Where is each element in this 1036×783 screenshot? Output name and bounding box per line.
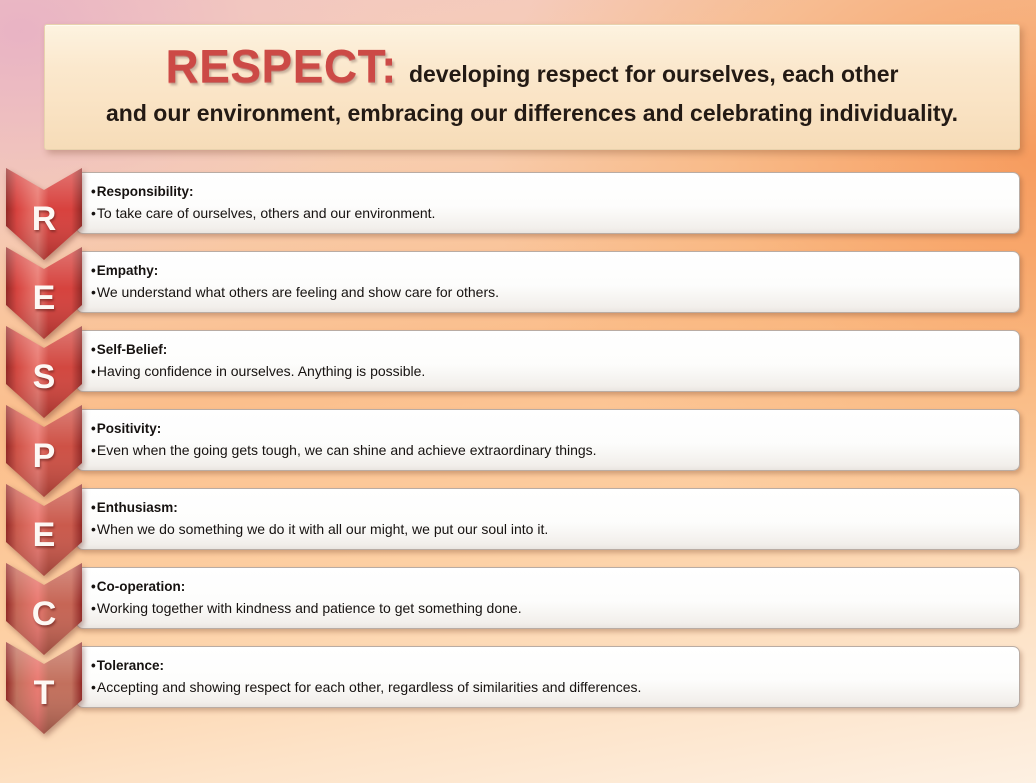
value-card: •Enthusiasm:•When we do something we do … [76, 488, 1020, 550]
header-banner: RESPECT: developing respect for ourselve… [44, 24, 1020, 150]
value-description: •We understand what others are feeling a… [91, 282, 1019, 303]
respect-title: RESPECT: [165, 43, 396, 89]
value-title-text: Positivity: [97, 421, 162, 436]
respect-row: R•Responsibility:•To take care of oursel… [0, 168, 1036, 247]
value-card: •Positivity:•Even when the going gets to… [76, 409, 1020, 471]
respect-row: T•Tolerance:•Accepting and showing respe… [0, 642, 1036, 721]
value-title: •Co-operation: [91, 577, 1019, 597]
respect-row: E•Enthusiasm:•When we do something we do… [0, 484, 1036, 563]
bullet-icon: • [91, 521, 96, 537]
value-title: •Enthusiasm: [91, 498, 1019, 518]
value-card: •Responsibility:•To take care of ourselv… [76, 172, 1020, 234]
value-title-text: Self-Belief: [97, 342, 168, 357]
value-description: •When we do something we do it with all … [91, 519, 1019, 540]
bullet-icon: • [91, 658, 96, 673]
value-description-text: We understand what others are feeling an… [97, 284, 499, 300]
respect-row: E•Empathy:•We understand what others are… [0, 247, 1036, 326]
value-description-text: To take care of ourselves, others and ou… [97, 205, 436, 221]
value-title: •Self-Belief: [91, 340, 1019, 360]
bullet-icon: • [91, 363, 96, 379]
bullet-icon: • [91, 205, 96, 221]
banner-second-line: and our environment, embracing our diffe… [106, 101, 958, 126]
bullet-icon: • [91, 600, 96, 616]
bullet-icon: • [91, 579, 96, 594]
value-description-text: Accepting and showing respect for each o… [97, 679, 641, 695]
poster-canvas: RESPECT: developing respect for ourselve… [0, 0, 1036, 783]
bullet-icon: • [91, 442, 96, 458]
value-description: •To take care of ourselves, others and o… [91, 203, 1019, 224]
value-description: •Even when the going gets tough, we can … [91, 440, 1019, 461]
value-title: •Positivity: [91, 419, 1019, 439]
value-title-text: Co-operation: [97, 579, 186, 594]
value-description-text: Working together with kindness and patie… [97, 600, 522, 616]
value-title: •Responsibility: [91, 182, 1019, 202]
respect-row: C•Co-operation:•Working together with ki… [0, 563, 1036, 642]
value-title-text: Empathy: [97, 263, 159, 278]
banner-headline: RESPECT: developing respect for ourselve… [165, 43, 898, 89]
value-description: •Having confidence in ourselves. Anythin… [91, 361, 1019, 382]
value-card: •Empathy:•We understand what others are … [76, 251, 1020, 313]
respect-row: P•Positivity:•Even when the going gets t… [0, 405, 1036, 484]
value-title: •Empathy: [91, 261, 1019, 281]
value-description-text: When we do something we do it with all o… [97, 521, 548, 537]
bullet-icon: • [91, 284, 96, 300]
value-description-text: Even when the going gets tough, we can s… [97, 442, 597, 458]
bullet-icon: • [91, 679, 96, 695]
bullet-icon: • [91, 342, 96, 357]
bullet-icon: • [91, 421, 96, 436]
bullet-icon: • [91, 184, 96, 199]
value-title: •Tolerance: [91, 656, 1019, 676]
value-description: •Working together with kindness and pati… [91, 598, 1019, 619]
value-title-text: Tolerance: [97, 658, 164, 673]
bullet-icon: • [91, 500, 96, 515]
value-description-text: Having confidence in ourselves. Anything… [97, 363, 425, 379]
value-description: •Accepting and showing respect for each … [91, 677, 1019, 698]
respect-rows: R•Responsibility:•To take care of oursel… [0, 168, 1036, 721]
chevron-icon: T [6, 642, 82, 738]
value-card: •Co-operation:•Working together with kin… [76, 567, 1020, 629]
banner-subtitle: developing respect for ourselves, each o… [409, 62, 899, 87]
value-title-text: Enthusiasm: [97, 500, 178, 515]
respect-row: S•Self-Belief:•Having confidence in ours… [0, 326, 1036, 405]
value-card: •Self-Belief:•Having confidence in ourse… [76, 330, 1020, 392]
value-title-text: Responsibility: [97, 184, 194, 199]
value-card: •Tolerance:•Accepting and showing respec… [76, 646, 1020, 708]
bullet-icon: • [91, 263, 96, 278]
